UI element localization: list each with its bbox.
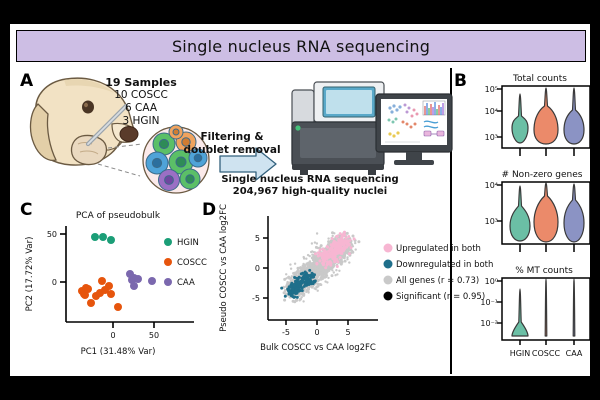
figure-panel: Single nucleus RNA sequencing A: [8, 22, 592, 378]
violin-xtick-label-hgin: HGIN: [510, 349, 531, 358]
panel-b-violin-mt-counts: % MT counts 10⁰ 10⁻¹ 10⁻² HGIN COSCC CAA: [462, 260, 594, 372]
scatter-xtick-5: 5: [345, 328, 350, 337]
scatter-ylabel: Pseudo COSCC vs CAA log2FC: [219, 204, 229, 332]
violin-xtick-label-coscc: COSCC: [532, 349, 561, 358]
violin-hgin-1: [512, 94, 528, 143]
violin-title-nonzero-genes: # Non-zero genes: [502, 170, 583, 180]
pca-points-coscc: [78, 277, 122, 311]
dog-nose: [120, 127, 138, 142]
violin3-ytick-1e-2: 10⁻²: [480, 319, 498, 328]
scatter-legend-dot-up: [384, 244, 393, 253]
violin-hgin-2: [510, 186, 530, 241]
computer-monitor-icon: [376, 94, 452, 165]
violin-title-mt-counts: % MT counts: [515, 266, 573, 276]
scatter-ytick-5: 5: [255, 234, 260, 243]
scatter-legend-dot-down: [384, 260, 393, 269]
pca-title: PCA of pseudobulk: [76, 211, 161, 221]
sample-line-hgin: 3 HGIN: [122, 115, 159, 127]
figure-banner: Single nucleus RNA sequencing: [16, 30, 586, 62]
scatter-legend-dot-all: [384, 276, 393, 285]
scatter-ytick-neg5: -5: [252, 294, 260, 303]
pca-xlabel: PC1 (31.48% Var): [81, 347, 156, 357]
violin-coscc-3: [545, 279, 547, 336]
pca-legend-dot-caa: [164, 278, 172, 286]
arrow-label-line1: Filtering &: [200, 131, 263, 143]
tumor-mass: [71, 135, 106, 164]
scatter-legend-dot-significant: [384, 292, 393, 301]
violin2-ytick-1e3: 10³: [485, 217, 498, 226]
violin-xtick-label-caa: CAA: [566, 349, 583, 358]
violin1-ytick-1e4: 10⁴: [485, 107, 498, 116]
pca-xtick-0: 0: [110, 331, 115, 340]
pca-ytick-0: 0: [52, 278, 57, 287]
output-line1: Single nucleus RNA sequencing: [221, 174, 398, 185]
dog-eye: [82, 101, 94, 114]
violin-title-total-counts: Total counts: [512, 74, 567, 84]
pca-points-caa: [126, 270, 156, 290]
output-line2: 204,967 high-quality nuclei: [233, 186, 387, 197]
panel-b-violin-nonzero-genes: # Non-zero genes 10⁴ 10³: [462, 164, 594, 262]
violin-coscc-1: [534, 88, 558, 144]
scatter-xtick-0: 0: [314, 328, 319, 337]
violin-caa-2: [564, 184, 584, 242]
pca-legend-label-coscc: COSCC: [177, 258, 207, 268]
pca-legend-dot-hgin: [164, 238, 172, 246]
sequencer-machine-icon: [292, 82, 384, 175]
banner-title: Single nucleus RNA sequencing: [172, 37, 430, 56]
pca-ylabel: PC2 (17.72% Var): [25, 237, 35, 312]
pca-points-hgin: [91, 233, 115, 244]
panel-c-pca-chart: PCA of pseudobulk 50 0 0 50 PC1 (31.48% …: [18, 204, 218, 369]
pca-ytick-50: 50: [47, 230, 57, 239]
violin1-ytick-1e5: 10⁵: [485, 85, 498, 94]
violin2-ytick-1e4: 10⁴: [485, 181, 498, 190]
violin-caa-3: [573, 279, 575, 336]
scatter-xtick-neg5: -5: [282, 328, 290, 337]
pca-xtick-50: 50: [149, 331, 159, 340]
samples-heading: 19 Samples: [105, 76, 177, 89]
violin3-ytick-1e-1: 10⁻¹: [480, 298, 498, 307]
pca-legend-label-hgin: HGIN: [177, 238, 199, 248]
pca-legend-label-caa: CAA: [177, 278, 195, 288]
violin-coscc-2: [534, 183, 558, 242]
scatter-xlabel: Bulk COSCC vs CAA log2FC: [260, 343, 376, 353]
violin-caa-1: [564, 88, 584, 144]
violin1-ytick-1e3: 10³: [485, 133, 498, 142]
cell-cluster-icon: [143, 125, 209, 193]
pca-legend: HGIN COSCC CAA: [164, 238, 207, 288]
panel-d-scatter-chart: 5 0 -5 -5 0 5 Bulk COSCC vs CAA log2FC P…: [206, 200, 450, 372]
violin3-ytick-1e0: 10⁰: [485, 277, 498, 286]
scatter-ytick-0: 0: [255, 264, 260, 273]
sample-line-coscc: 10 COSCC: [114, 89, 168, 101]
sample-line-caa: 6 CAA: [125, 102, 157, 114]
arrow-label-line2: doublet removal: [183, 144, 280, 156]
violin-hgin-3: [512, 289, 528, 336]
pca-legend-dot-coscc: [164, 258, 172, 266]
panel-b-violin-total-counts: Total counts 10⁵ 10⁴ 10³: [462, 70, 594, 168]
